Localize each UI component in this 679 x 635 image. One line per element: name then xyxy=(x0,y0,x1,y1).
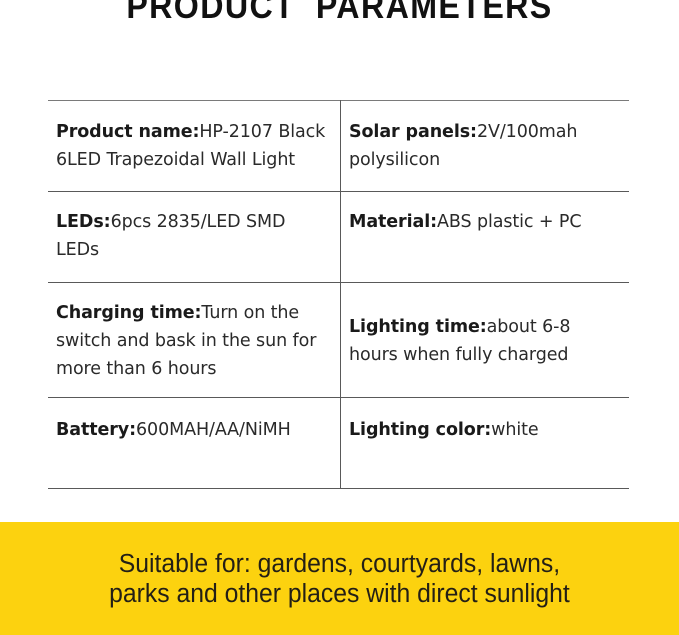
spec-label: LEDs xyxy=(56,212,104,232)
spec-separator: : xyxy=(129,420,136,440)
spec-separator: : xyxy=(104,212,111,232)
table-cell-leds: LEDs:6pcs 2835/LED SMD LEDs xyxy=(48,192,341,283)
page-title: PRODUCT PARAMETERS xyxy=(27,0,652,27)
table-row: Charging time:Turn on the switch and bas… xyxy=(48,283,629,398)
spec-label: Battery xyxy=(56,420,129,440)
table-cell-battery: Battery:600MAH/AA/NiMH xyxy=(48,398,341,489)
table-cell-lighting-color: Lighting color:white xyxy=(341,398,630,489)
table-cell-product-name: Product name:HP-2107 Black 6LED Trapezoi… xyxy=(48,101,341,192)
spec-separator: : xyxy=(480,317,487,337)
table-row: Battery:600MAH/AA/NiMH Lighting color:wh… xyxy=(48,398,629,489)
table-cell-solar-panels: Solar panels:2V/100mah polysilicon xyxy=(341,101,630,192)
spec-label: Lighting time xyxy=(349,317,480,337)
table-cell-lighting-time: Lighting time:about 6-8 hours when fully… xyxy=(341,283,630,398)
table-cell-material: Material:ABS plastic + PC xyxy=(341,192,630,283)
spec-label: Solar panels xyxy=(349,122,470,142)
table-row: LEDs:6pcs 2835/LED SMD LEDs Material:ABS… xyxy=(48,192,629,283)
spec-label: Charging time xyxy=(56,303,195,323)
usage-banner-text: Suitable for: gardens, courtyards, lawns… xyxy=(86,549,593,609)
spec-separator: : xyxy=(470,122,477,142)
spec-value: ABS plastic + PC xyxy=(437,212,581,232)
table-row: Product name:HP-2107 Black 6LED Trapezoi… xyxy=(48,101,629,192)
product-parameters-table: Product name:HP-2107 Black 6LED Trapezoi… xyxy=(48,100,629,489)
spec-label: Material xyxy=(349,212,430,232)
spec-label: Lighting color xyxy=(349,420,484,440)
spec-value: 600MAH/AA/NiMH xyxy=(136,420,291,440)
usage-banner: Suitable for: gardens, courtyards, lawns… xyxy=(0,522,679,635)
spec-separator: : xyxy=(430,212,437,232)
table-cell-charging-time: Charging time:Turn on the switch and bas… xyxy=(48,283,341,398)
spec-label: Product name xyxy=(56,122,192,142)
spec-value: white xyxy=(491,420,538,440)
